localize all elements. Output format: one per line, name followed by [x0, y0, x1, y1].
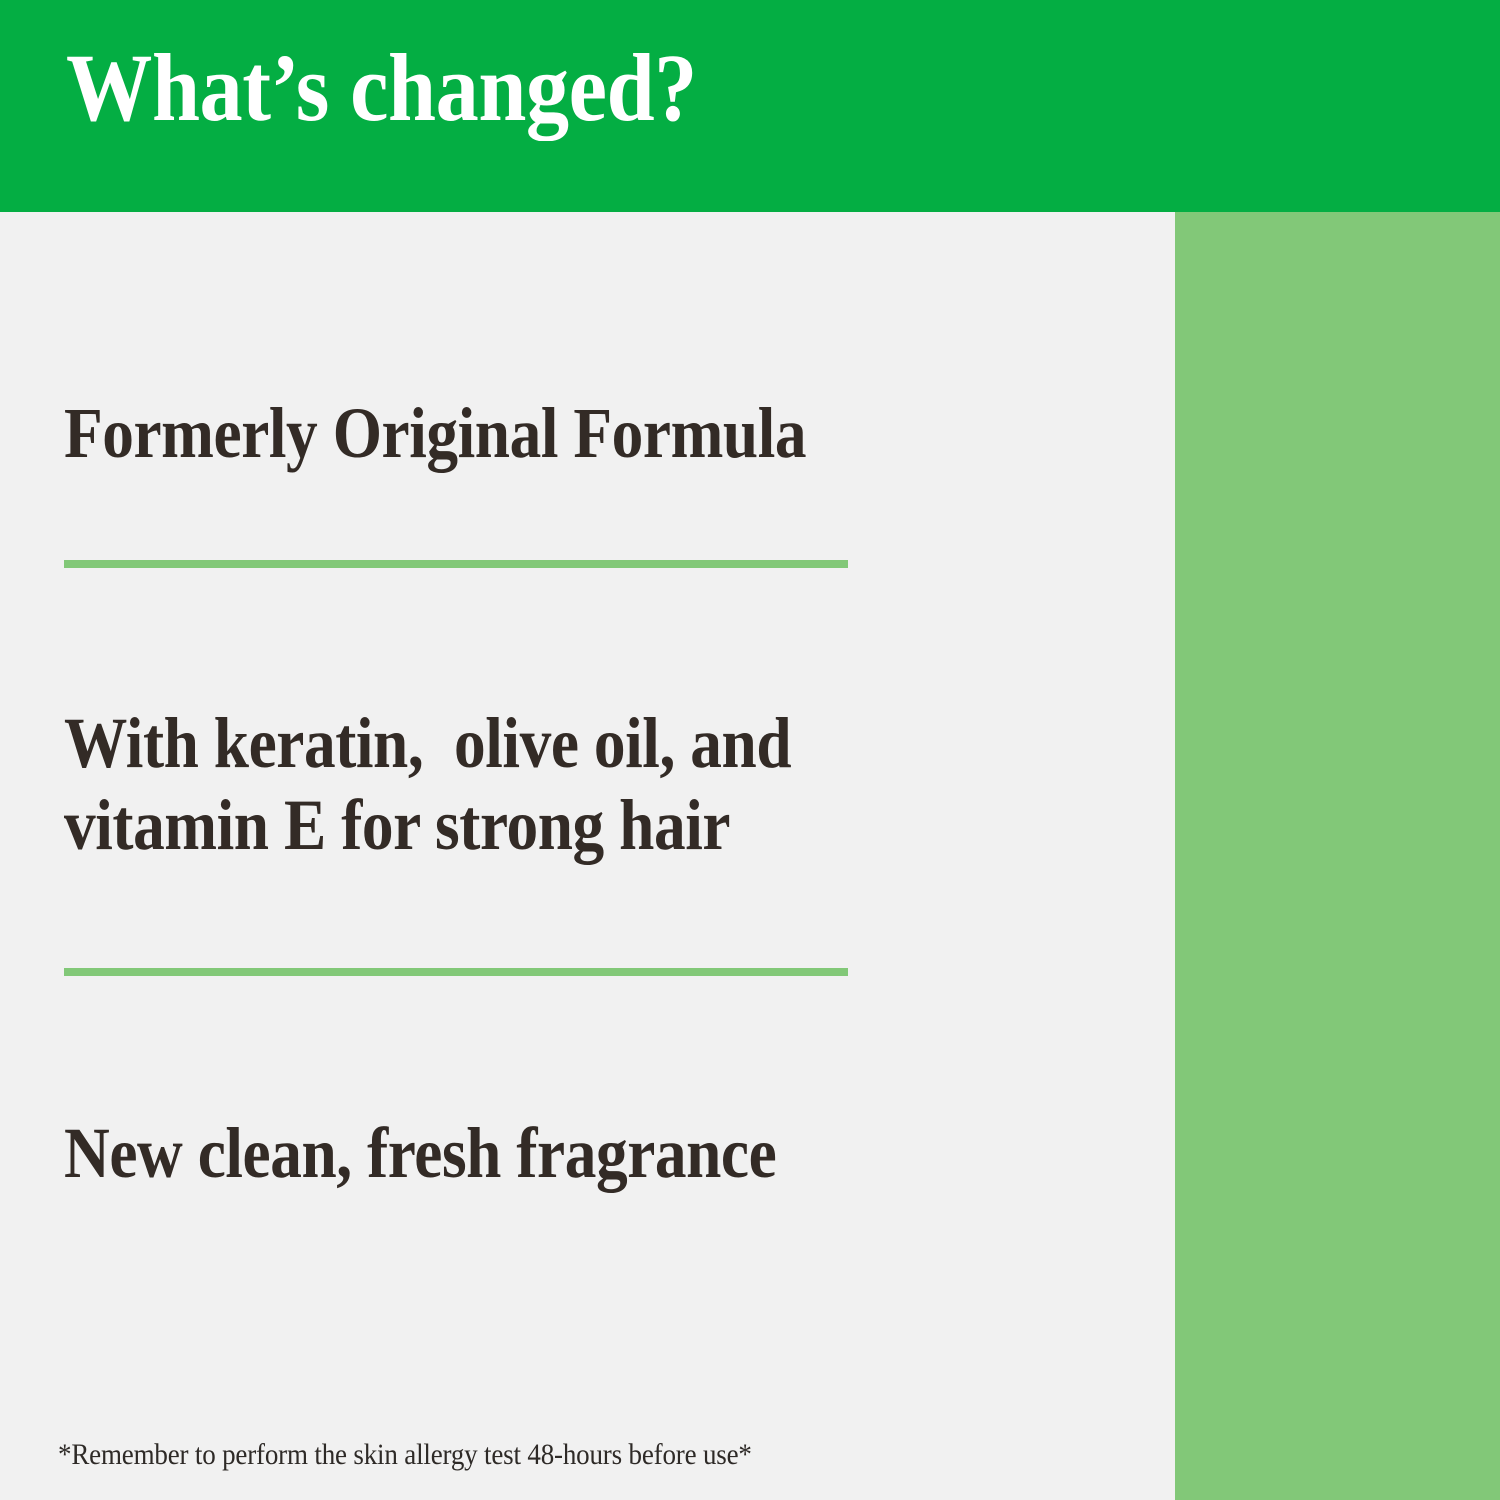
divider-rule-1: [64, 560, 848, 568]
page-title: What’s changed?: [66, 40, 697, 136]
header-band: What’s changed?: [0, 0, 1500, 212]
feature-heading-keratin-olive-oil-vitamin-e: With keratin, olive oil, and vitamin E f…: [64, 702, 791, 866]
infographic-canvas: What’s changed? Formerly Original Formul…: [0, 0, 1500, 1500]
feature-heading-new-fragrance: New clean, fresh fragrance: [64, 1112, 776, 1194]
allergy-test-footnote: *Remember to perform the skin allergy te…: [58, 1437, 752, 1473]
content-area: Formerly Original Formula With keratin, …: [0, 212, 1175, 1500]
divider-rule-2: [64, 968, 848, 976]
feature-heading-formerly-original-formula: Formerly Original Formula: [64, 392, 806, 474]
right-accent-panel: [1175, 212, 1500, 1500]
